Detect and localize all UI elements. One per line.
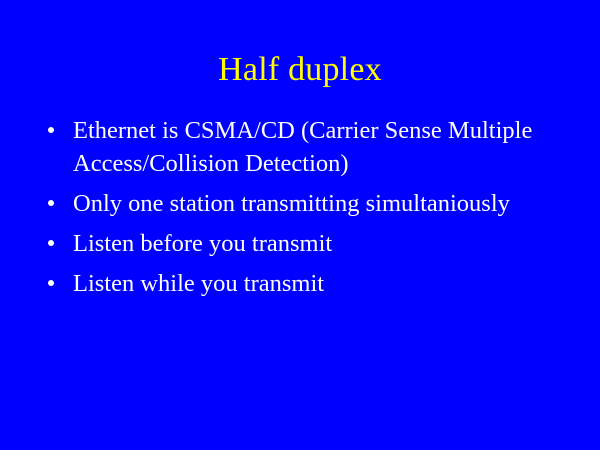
presentation-slide: Half duplex Ethernet is CSMA/CD (Carrier… (0, 0, 600, 450)
bullet-text: Listen while you transmit (73, 267, 552, 300)
bullet-list: Ethernet is CSMA/CD (Carrier Sense Multi… (42, 114, 552, 307)
list-item: Listen while you transmit (42, 267, 552, 300)
list-item: Ethernet is CSMA/CD (Carrier Sense Multi… (42, 114, 552, 180)
bullet-point-icon (48, 127, 54, 133)
list-item: Listen before you transmit (42, 227, 552, 260)
bullet-text: Only one station transmitting simultanio… (73, 187, 552, 220)
bullet-point-icon (48, 200, 54, 206)
bullet-text: Ethernet is CSMA/CD (Carrier Sense Multi… (73, 114, 552, 180)
bullet-point-icon (48, 280, 54, 286)
bullet-text: Listen before you transmit (73, 227, 552, 260)
list-item: Only one station transmitting simultanio… (42, 187, 552, 220)
slide-title: Half duplex (0, 50, 600, 90)
bullet-point-icon (48, 240, 54, 246)
